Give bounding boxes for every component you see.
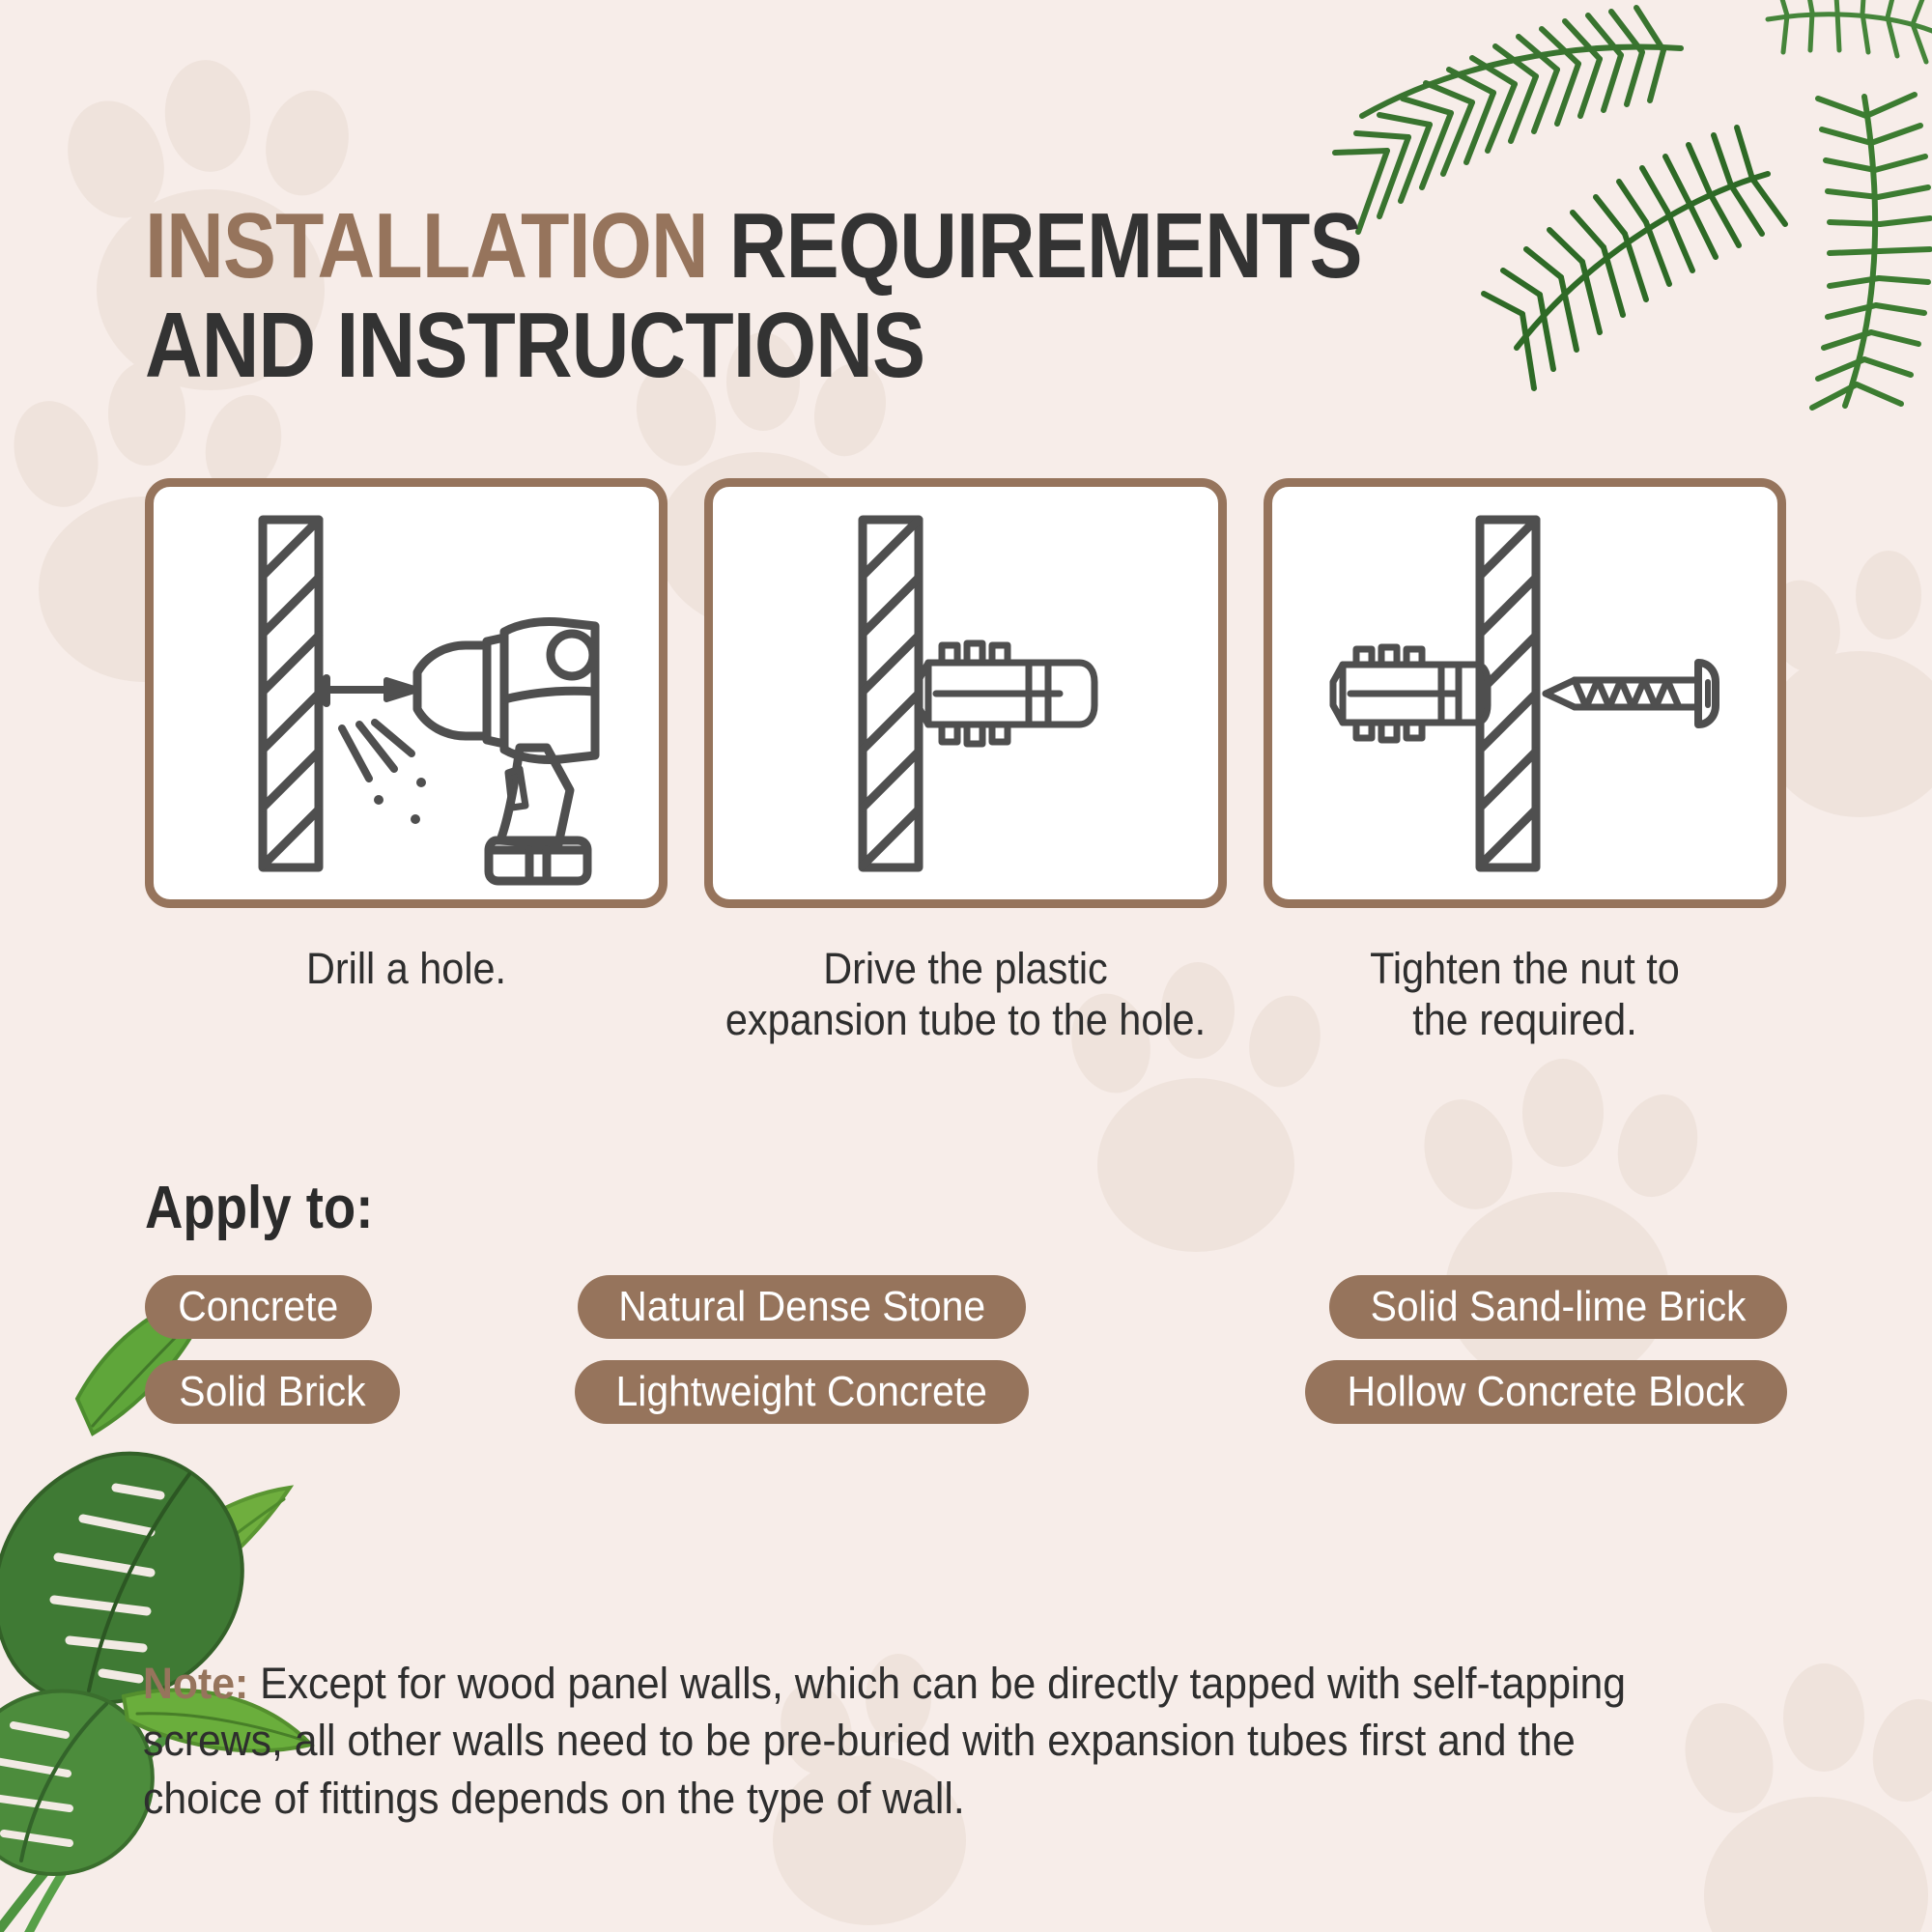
page-title: INSTALLATION REQUIREMENTS AND INSTRUCTIO… xyxy=(145,197,1458,395)
step-2: Drive the plasticexpansion tube to the h… xyxy=(704,478,1227,1045)
infographic-canvas: INSTALLATION REQUIREMENTS AND INSTRUCTIO… xyxy=(0,0,1932,1932)
apply-pill-hollow-concrete-block[interactable]: Hollow Concrete Block xyxy=(1305,1360,1787,1424)
apply-pill-label: Lightweight Concrete xyxy=(616,1368,987,1416)
apply-pill-concrete[interactable]: Concrete xyxy=(145,1275,372,1339)
step-1-illustration-box xyxy=(145,478,668,908)
apply-pill-solid-sand-lime-brick[interactable]: Solid Sand-lime Brick xyxy=(1329,1275,1787,1339)
page-title-accent: INSTALLATION xyxy=(145,194,708,298)
note-text: Except for wood panel walls, which can b… xyxy=(143,1659,1626,1823)
installation-steps: Drill a hole. xyxy=(145,478,1787,1045)
apply-pill-lightweight-concrete[interactable]: Lightweight Concrete xyxy=(575,1360,1028,1424)
step-2-illustration-box xyxy=(704,478,1227,908)
apply-pill-label: Concrete xyxy=(178,1283,338,1331)
drill-into-wall-icon xyxy=(180,500,634,887)
step-3: Tighten the nut tothe required. xyxy=(1264,478,1786,1045)
step-1-caption: Drill a hole. xyxy=(166,943,647,994)
step-3-illustration-box xyxy=(1264,478,1786,908)
apply-pill-label: Solid Brick xyxy=(179,1368,365,1416)
screw-into-expansion-tube-icon xyxy=(1298,500,1752,887)
apply-pill-solid-brick[interactable]: Solid Brick xyxy=(145,1360,400,1424)
note-label: Note: xyxy=(143,1659,248,1708)
apply-to-heading: Apply to: xyxy=(145,1174,373,1242)
apply-pill-label: Solid Sand-lime Brick xyxy=(1370,1283,1746,1331)
apply-to-row-1: Concrete Natural Dense Stone Solid Sand-… xyxy=(145,1275,1787,1339)
apply-pill-label: Hollow Concrete Block xyxy=(1348,1368,1746,1416)
step-1: Drill a hole. xyxy=(145,478,668,1045)
apply-pill-natural-dense-stone[interactable]: Natural Dense Stone xyxy=(578,1275,1026,1339)
apply-pill-label: Natural Dense Stone xyxy=(618,1283,985,1331)
apply-to-row-2: Solid Brick Lightweight Concrete Hollow … xyxy=(145,1360,1787,1424)
note-paragraph: Note: Except for wood panel walls, which… xyxy=(143,1655,1703,1827)
page-title-line2: AND INSTRUCTIONS xyxy=(145,294,924,397)
page-title-rest: REQUIREMENTS xyxy=(729,194,1362,298)
apply-to-pill-list: Concrete Natural Dense Stone Solid Sand-… xyxy=(145,1275,1787,1445)
step-3-caption: Tighten the nut tothe required. xyxy=(1285,943,1766,1045)
step-2-caption: Drive the plasticexpansion tube to the h… xyxy=(725,943,1207,1045)
expansion-tube-into-wall-icon xyxy=(739,500,1193,887)
